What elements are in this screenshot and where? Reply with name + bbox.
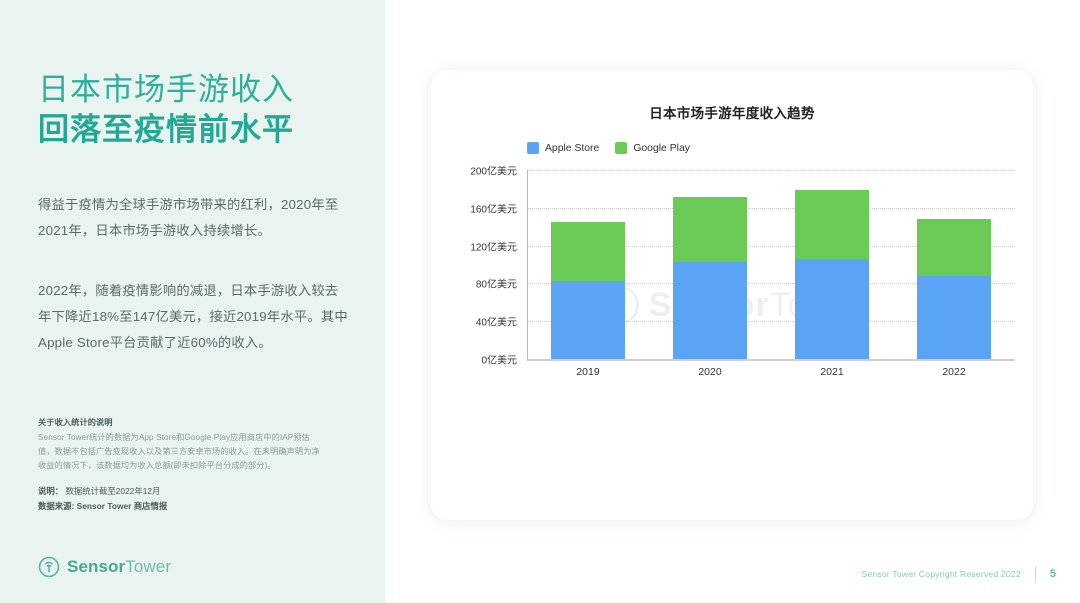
headline-line-2: 回落至疫情前水平: [38, 110, 368, 150]
body-paragraph-1: 得益于疫情为全球手游市场带来的红利，2020年至2021年，日本市场手游收入持续…: [38, 192, 350, 244]
footnote-block: 关于收入统计的说明 Sensor Tower统计的数据为App Store和Go…: [38, 416, 323, 514]
y-axis-tick-label: 200亿美元: [445, 163, 517, 178]
footnote-title: 关于收入统计的说明: [38, 416, 323, 428]
y-axis-tick-label: 160亿美元: [445, 200, 517, 215]
bar-column-2022[interactable]: [917, 170, 991, 359]
footer-page-number: 5: [1050, 568, 1056, 580]
chart-card: 日本市场手游年度收入趋势 Apple Store Google Play 0亿美…: [431, 70, 1033, 520]
bar-column-2021[interactable]: [795, 170, 869, 359]
left-panel: 日本市场手游收入 回落至疫情前水平 得益于疫情为全球手游市场带来的红利，2020…: [0, 0, 385, 603]
footnote-date-value: 数据统计截至2022年12月: [65, 486, 160, 496]
y-axis-tick-label: 0亿美元: [445, 352, 517, 367]
brand-logo-bold: Sensor: [67, 557, 125, 576]
page-title: 日本市场手游收入 回落至疫情前水平: [38, 70, 368, 151]
bar-segment-apple-store[interactable]: [551, 281, 625, 359]
x-axis-tick-label: 2021: [795, 366, 869, 378]
footnote-date-row: 说明： 数据统计截至2022年12月: [38, 484, 323, 499]
x-axis-tick-label: 2020: [673, 366, 747, 378]
brand-logo-normal: Tower: [125, 557, 171, 576]
chart-x-axis-labels: 2019202020212022: [527, 366, 1015, 378]
brand-logo: SensorTower: [38, 556, 171, 578]
bar-segment-google-play[interactable]: [917, 219, 991, 276]
bar-column-2019[interactable]: [551, 170, 625, 359]
chart-plot-area: 0亿美元40亿美元80亿美元120亿美元160亿美元200亿美元 SensorT…: [431, 70, 1033, 520]
footnote-body: Sensor Tower统计的数据为App Store和Google Play应…: [38, 431, 323, 473]
footnote-source: 数据来源: Sensor Tower 商店情报: [38, 499, 323, 514]
y-axis-tick-label: 40亿美元: [445, 314, 517, 329]
right-content-area: 日本市场手游年度收入趋势 Apple Store Google Play 0亿美…: [385, 0, 1080, 603]
bar-segment-google-play[interactable]: [795, 190, 869, 259]
footnote-meta: 说明： 数据统计截至2022年12月 数据来源: Sensor Tower 商店…: [38, 484, 323, 513]
footnote-date-label: 说明：: [38, 486, 63, 496]
bar-segment-apple-store[interactable]: [673, 262, 747, 359]
bar-segment-apple-store[interactable]: [917, 276, 991, 359]
bar-segment-google-play[interactable]: [551, 222, 625, 281]
y-axis-tick-label: 120亿美元: [445, 238, 517, 253]
chart-bars: [527, 170, 1015, 359]
footer-copyright: Sensor Tower Copyright Reserved 2022: [861, 569, 1020, 579]
y-axis-tick-label: 80亿美元: [445, 276, 517, 291]
bar-segment-apple-store[interactable]: [795, 259, 869, 359]
page-footer: Sensor Tower Copyright Reserved 2022 5: [861, 566, 1056, 582]
footer-divider: [1035, 566, 1036, 582]
body-paragraph-2: 2022年，随着疫情影响的减退，日本手游收入较去年下降近18%至147亿美元，接…: [38, 278, 350, 356]
bar-column-2020[interactable]: [673, 170, 747, 359]
headline-line-1: 日本市场手游收入: [38, 70, 368, 110]
x-axis-tick-label: 2022: [917, 366, 991, 378]
brand-logo-text: SensorTower: [67, 557, 171, 577]
sensor-tower-logo-icon: [38, 556, 60, 578]
chart-x-axis-line: [527, 359, 1015, 361]
bar-segment-google-play[interactable]: [673, 197, 747, 261]
x-axis-tick-label: 2019: [551, 366, 625, 378]
